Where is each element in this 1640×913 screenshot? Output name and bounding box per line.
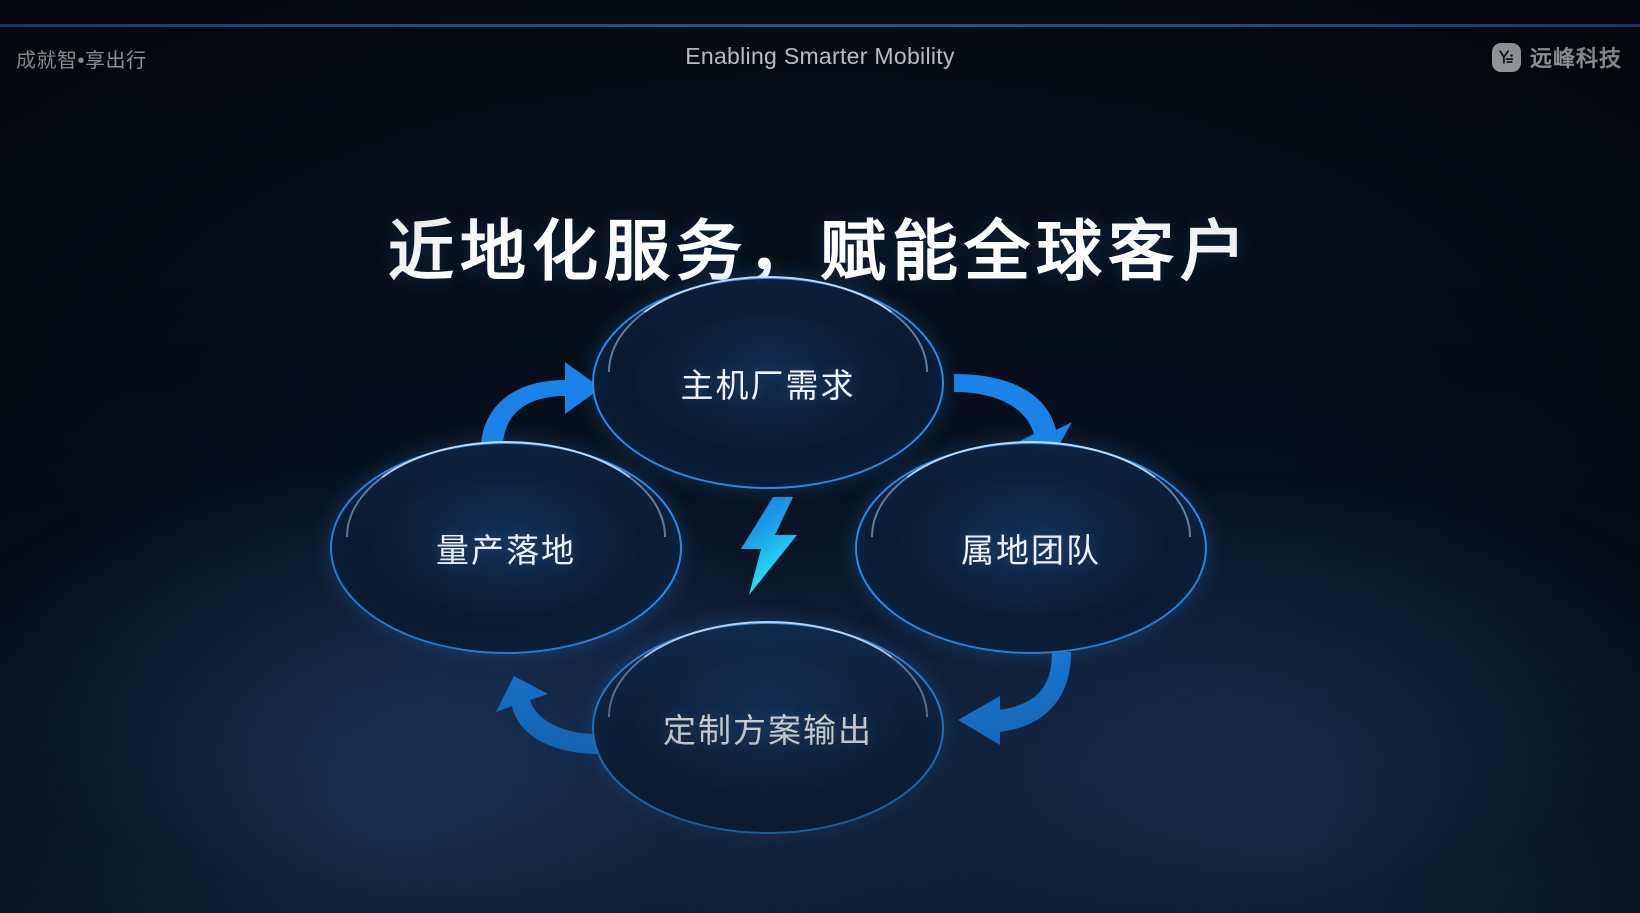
cycle-node-left-label: 量产落地 — [436, 524, 576, 572]
cycle-diagram: 主机厂需求 属地团队 定制方案输出 量产落地 — [0, 0, 1640, 913]
arrow-right-to-bottom-icon — [948, 650, 1073, 745]
cycle-node-bottom-label: 定制方案输出 — [663, 704, 873, 752]
cycle-node-bottom[interactable]: 定制方案输出 — [592, 622, 944, 834]
arrow-bottom-to-left-icon — [470, 660, 600, 755]
arrow-left-to-top-icon — [465, 352, 605, 447]
lightning-bolt-icon — [735, 497, 803, 595]
slide-root: 成就智•享出行 Enabling Smarter Mobility 远峰科技 近… — [0, 0, 1640, 913]
cycle-node-left[interactable]: 量产落地 — [330, 442, 682, 654]
arrow-top-to-right-icon — [952, 364, 1072, 454]
cycle-node-right-label: 属地团队 — [961, 524, 1101, 572]
cycle-node-top[interactable]: 主机厂需求 — [592, 277, 944, 489]
cycle-node-top-label: 主机厂需求 — [681, 359, 856, 407]
cycle-node-right[interactable]: 属地团队 — [855, 442, 1207, 654]
